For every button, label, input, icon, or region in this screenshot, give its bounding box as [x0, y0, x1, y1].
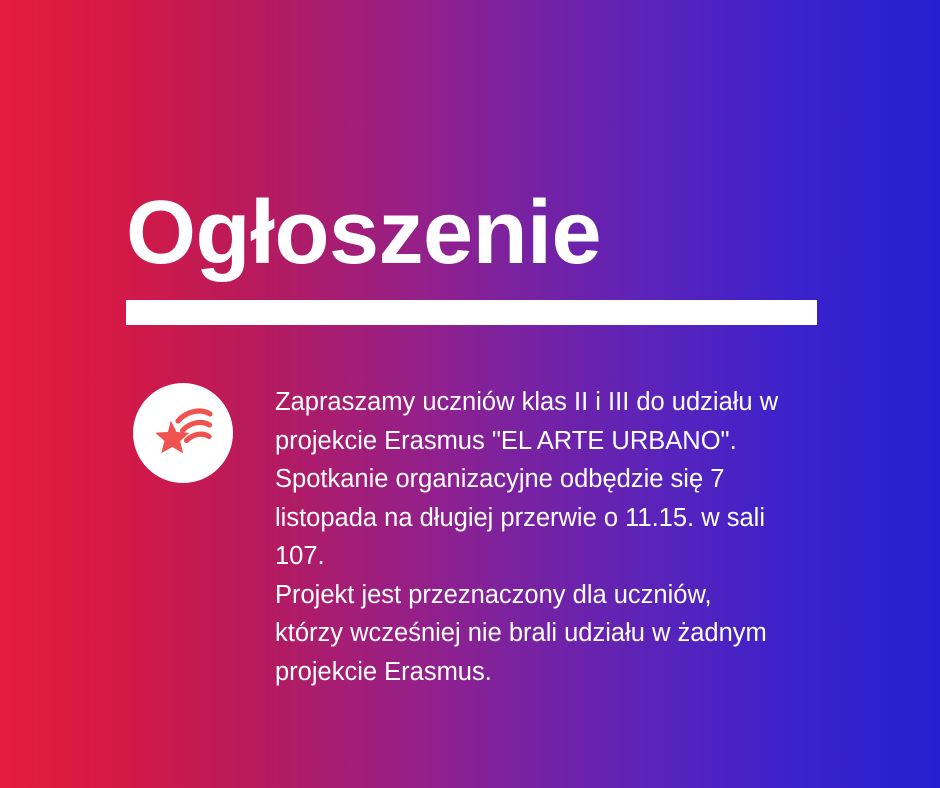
body-line: którzy wcześniej nie brali udziału w żad… — [275, 614, 827, 653]
body-line: Zapraszamy uczniów klas II i III do udzi… — [275, 383, 827, 422]
page-title: Ogłoszenie — [126, 186, 601, 281]
icon-badge — [133, 383, 233, 483]
body-line: projekcie Erasmus "EL ARTE URBANO". — [275, 422, 827, 461]
body-line: Spotkanie organizacyjne odbędzie się 7 — [275, 460, 827, 499]
title-underline-bar — [126, 300, 817, 325]
shooting-star-icon — [151, 401, 215, 465]
body-line: 107. — [275, 537, 827, 576]
announcement-body: Zapraszamy uczniów klas II i III do udzi… — [275, 383, 827, 691]
body-line: projekcie Erasmus. — [275, 653, 827, 692]
body-line: Projekt jest przeznaczony dla uczniów, — [275, 576, 827, 615]
announcement-poster: Ogłoszenie Zapraszamy uczniów klas II i … — [0, 0, 940, 788]
body-line: listopada na długiej przerwie o 11.15. w… — [275, 499, 827, 538]
